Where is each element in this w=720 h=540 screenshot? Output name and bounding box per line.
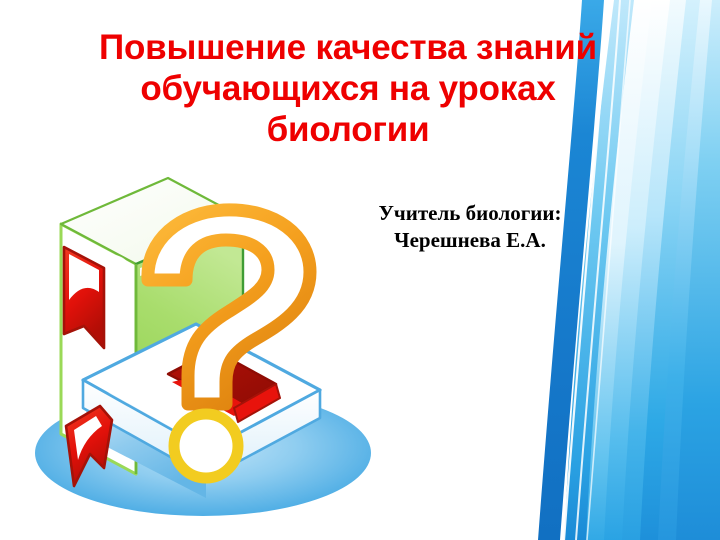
title-line-3: биологии [18,109,678,150]
slide-title: Повышение качества знаний обучающихся на… [18,27,678,150]
question-mark-dot-ring [174,414,238,478]
title-line-2: обучающихся на уроках [18,68,678,109]
subtitle-line-2: Черешнева Е.А. [345,227,595,254]
wave-band-b [676,0,720,540]
title-line-1: Повышение качества знаний [18,27,678,68]
subtitle-line-1: Учитель биологии: [345,200,595,227]
slide-subtitle: Учитель биологии: Черешнева Е.А. [345,200,595,254]
presentation-slide: Повышение качества знаний обучающихся на… [0,0,720,540]
books-and-question-mark-illustration [28,168,378,523]
